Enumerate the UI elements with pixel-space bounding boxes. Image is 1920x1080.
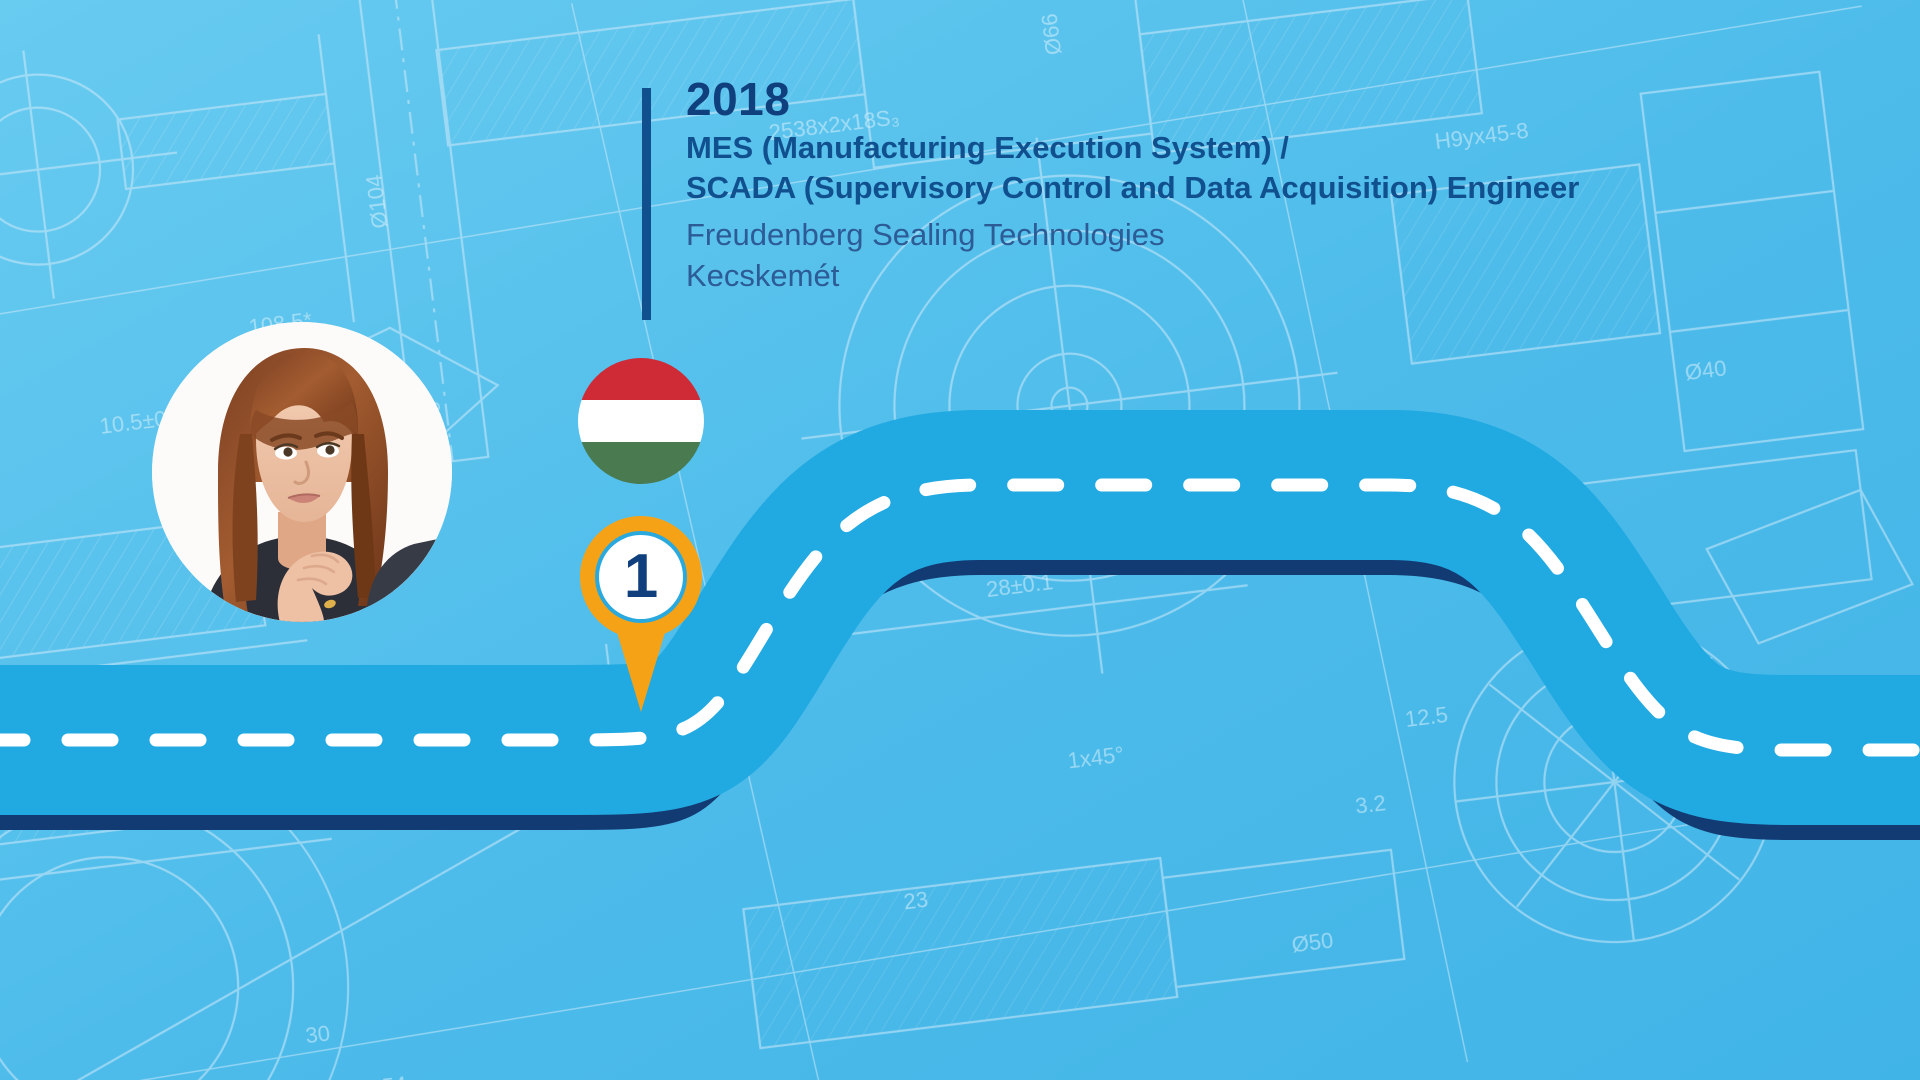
entry-company: Freudenberg Sealing Technologies [686,215,1886,256]
employee-portrait: Portrait of a woman with auburn hair res… [152,322,452,622]
accent-bar [642,88,651,320]
career-timeline-slide: Ø104 Ø66 5 5 A 1x45° 130 2538x2x18S₃ H9у… [0,0,1920,1080]
entry-city: Kecskemét [686,256,1886,297]
entry-role-line-1: MES (Manufacturing Execution System) / [686,128,1886,168]
entry-year: 2018 [686,76,1886,122]
map-pin-marker[interactable]: 1 [580,516,702,716]
hungary-flag-icon [578,358,704,484]
portrait-illustration: Portrait of a woman with auburn hair res… [152,322,452,622]
career-entry-text: 2018 MES (Manufacturing Execution System… [686,76,1886,296]
map-pin-number: 1 [580,516,702,638]
flag-stripe-white [578,400,704,442]
entry-role-line-2: SCADA (Supervisory Control and Data Acqu… [686,168,1886,208]
